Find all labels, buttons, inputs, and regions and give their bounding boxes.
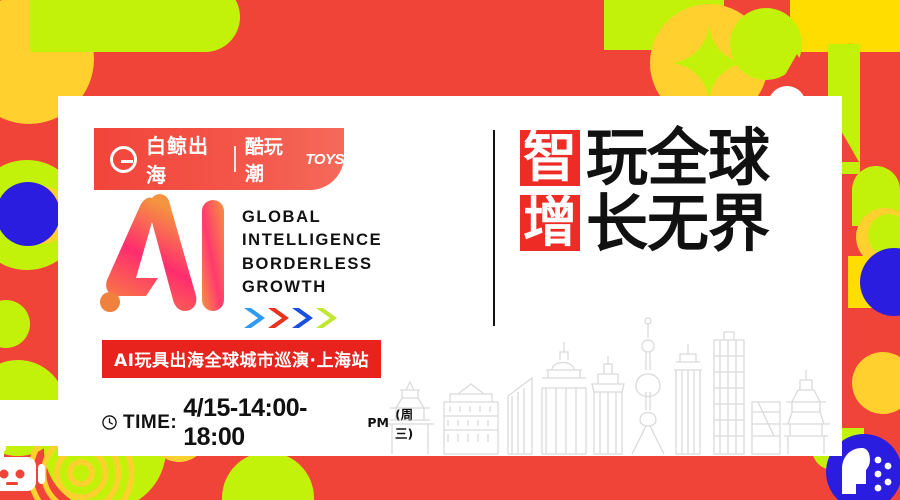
ai-head-profile-icon — [836, 444, 896, 500]
headline-black-text-2: 长无界 — [586, 194, 769, 254]
headline-row-1: 智 玩全球 — [520, 128, 840, 188]
ai-logo-mark-icon — [100, 192, 228, 312]
time-info-line: TIME: 4/15-14:00-18:00 PM (周三) — [102, 394, 430, 452]
robot-icon — [0, 446, 52, 500]
time-value: 4/15-14:00-18:00 — [183, 394, 361, 452]
headline-black-text-1: 玩全球 — [586, 128, 769, 188]
headline-red-char-2: 增 — [520, 195, 580, 251]
ai-logo-row: GLOBAL INTELLIGENCE BORDERLESS GROWTH — [100, 192, 430, 330]
decor-small-green-circle-left — [0, 300, 30, 348]
brand-secondary-suffix: TOYS — [305, 151, 344, 168]
tagline-column: GLOBAL INTELLIGENCE BORDERLESS GROWTH — [242, 192, 382, 330]
shanghai-city-skyline — [388, 316, 842, 456]
brand-primary-label: 白鲸出海 — [146, 130, 225, 188]
headline-block: 智 玩全球 增 长无界 — [520, 128, 840, 253]
time-suffix: PM — [367, 415, 389, 430]
tagline-line-1: GLOBAL — [242, 206, 382, 229]
brand-secondary-label: 酷玩潮 — [245, 132, 299, 186]
decor-yellow-circle-right-lower — [852, 352, 900, 414]
tagline-line-4: GROWTH — [242, 276, 382, 299]
time-label: TIME: — [123, 412, 177, 434]
left-content-column: GLOBAL INTELLIGENCE BORDERLESS GROWTH AI… — [100, 192, 430, 456]
tagline-line-2: INTELLIGENCE — [242, 229, 382, 252]
card-body: GLOBAL INTELLIGENCE BORDERLESS GROWTH AI… — [58, 192, 842, 456]
clock-icon — [102, 415, 117, 430]
headline-red-char-1: 智 — [520, 130, 580, 186]
brand-divider — [234, 146, 236, 172]
headline-row-2: 增 长无界 — [520, 194, 840, 254]
g-circle-logo-icon — [110, 146, 137, 173]
vertical-divider — [493, 130, 495, 326]
decor-white-notch-bottom-left — [0, 400, 60, 446]
tour-banner: AI玩具出海全球城市巡演·上海站 — [102, 340, 381, 378]
brand-logo-bar: 白鲸出海 酷玩潮 TOYS — [94, 128, 344, 190]
decor-green-half-circle-bottom — [222, 452, 314, 500]
poster-card: 白鲸出海 酷玩潮 TOYS — [58, 96, 842, 456]
tagline-line-3: BORDERLESS — [242, 253, 382, 276]
chevron-arrows-icon — [242, 306, 362, 330]
decor-green-bar-top-left — [30, 0, 240, 52]
